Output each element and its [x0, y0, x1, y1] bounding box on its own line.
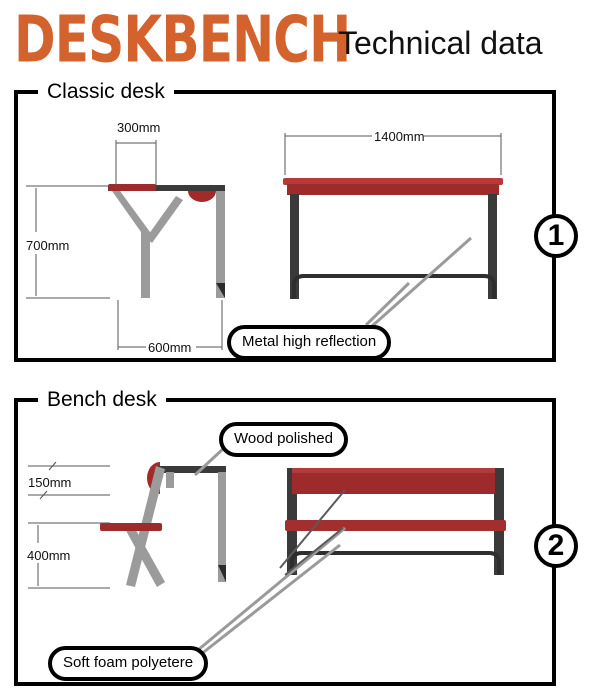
panel-bench-desk-legend: Bench desk — [38, 387, 166, 413]
page-subtitle: Technical data — [338, 24, 543, 62]
badge-1: 1 — [534, 214, 578, 258]
panel-classic-desk: Classic desk — [14, 90, 556, 362]
page-header: DESKBENCH Technical data — [0, 0, 600, 78]
callout-wood-polished: Wood polished — [219, 422, 348, 457]
callout-soft-foam-polyetere: Soft foam polyetere — [48, 646, 208, 681]
callout-metal-high-reflection: Metal high reflection — [227, 325, 391, 360]
panel-classic-desk-legend: Classic desk — [38, 79, 174, 105]
brand-title: DESKBENCH — [14, 6, 350, 74]
badge-2: 2 — [534, 524, 578, 568]
